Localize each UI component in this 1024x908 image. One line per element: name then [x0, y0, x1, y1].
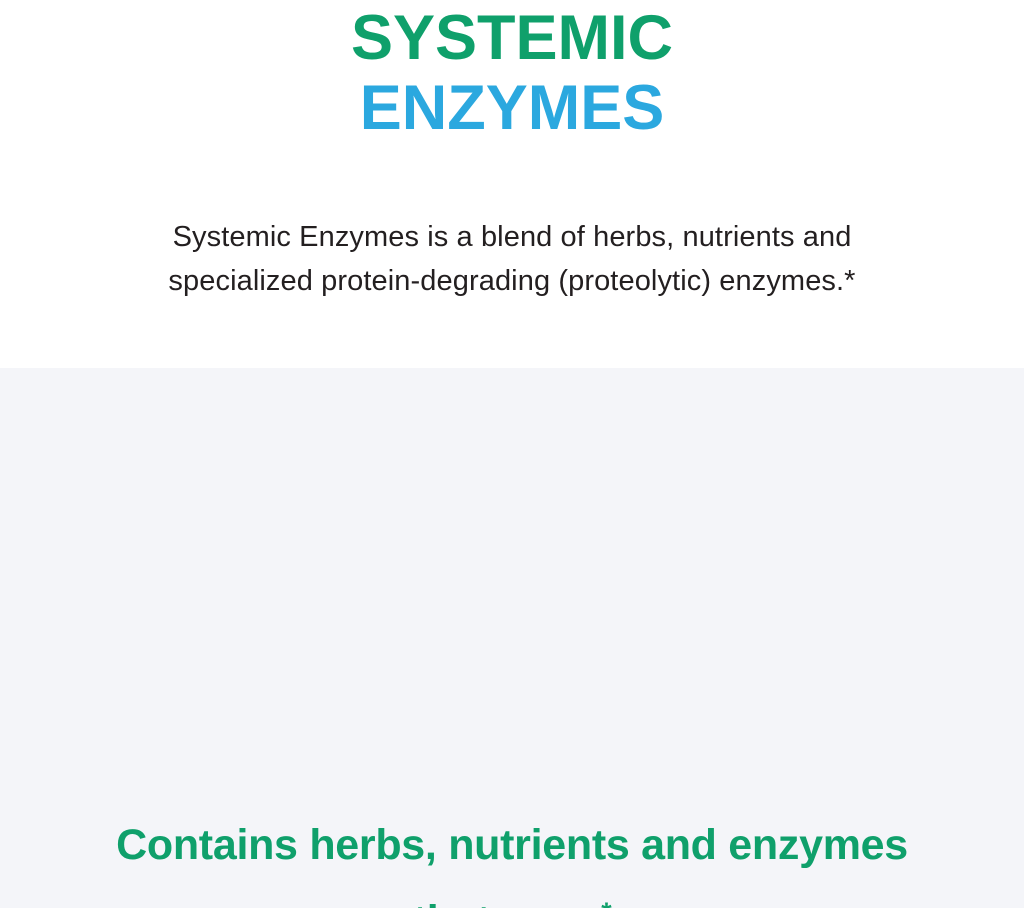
product-title-line-1: SYSTEMIC — [0, 7, 1024, 70]
product-description: Systemic Enzymes is a blend of herbs, nu… — [97, 215, 927, 303]
product-title-line-2: ENZYMES — [0, 77, 1024, 140]
benefits-section: Contains herbs, nutrients and enzymes th… — [0, 368, 1024, 908]
product-info-page: SYSTEMIC ENZYMES Systemic Enzymes is a b… — [0, 0, 1024, 908]
benefits-heading-asterisk: * — [601, 897, 611, 908]
benefits-heading-text: Contains herbs, nutrients and enzymes th… — [116, 821, 908, 908]
benefits-heading: Contains herbs, nutrients and enzymes th… — [97, 807, 927, 908]
product-title: SYSTEMIC ENZYMES — [0, 7, 1024, 140]
hero-section: SYSTEMIC ENZYMES Systemic Enzymes is a b… — [0, 0, 1024, 368]
